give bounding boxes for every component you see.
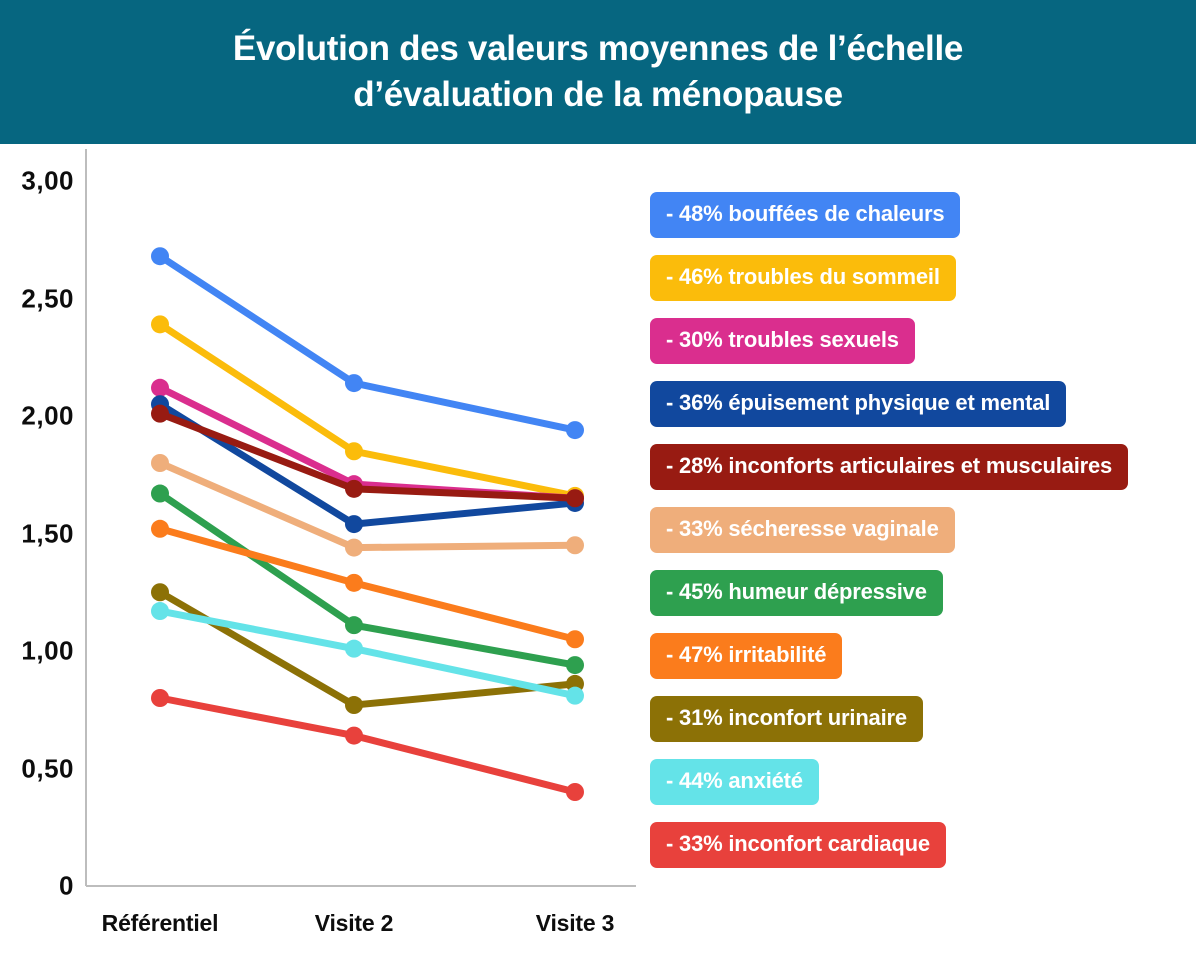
data-point bbox=[345, 640, 363, 658]
x-axis-tick-label: Référentiel bbox=[102, 910, 219, 937]
legend-item[interactable]: - 45% humeur dépressive bbox=[650, 570, 943, 616]
legend-item[interactable]: - 46% troubles du sommeil bbox=[650, 255, 956, 301]
data-point bbox=[345, 374, 363, 392]
chart-plot-area: 3,002,502,001,501,000,500 RéférentielVis… bbox=[0, 144, 700, 968]
line-chart-svg bbox=[0, 144, 700, 968]
data-point bbox=[566, 687, 584, 705]
data-point bbox=[151, 379, 169, 397]
x-axis-tick-label: Visite 3 bbox=[536, 910, 615, 937]
data-point bbox=[151, 583, 169, 601]
y-axis-tick-label: 1,00 bbox=[0, 636, 74, 667]
legend-item[interactable]: - 48% bouffées de chaleurs bbox=[650, 192, 960, 238]
data-point bbox=[151, 405, 169, 423]
legend-item[interactable]: - 30% troubles sexuels bbox=[650, 318, 915, 364]
data-point bbox=[345, 515, 363, 533]
chart-legend: - 48% bouffées de chaleurs- 46% troubles… bbox=[650, 192, 1190, 885]
y-axis-tick-label: 1,50 bbox=[0, 518, 74, 549]
data-point bbox=[566, 536, 584, 554]
legend-item[interactable]: - 33% sécheresse vaginale bbox=[650, 507, 955, 553]
data-point bbox=[345, 616, 363, 634]
series-6 bbox=[151, 485, 584, 675]
data-point bbox=[345, 539, 363, 557]
series-line bbox=[160, 256, 575, 430]
data-point bbox=[151, 454, 169, 472]
data-point bbox=[566, 489, 584, 507]
series-0 bbox=[151, 247, 584, 439]
y-axis-tick-label: 2,00 bbox=[0, 401, 74, 432]
legend-item[interactable]: - 28% inconforts articulaires et muscula… bbox=[650, 444, 1128, 490]
data-point bbox=[345, 696, 363, 714]
data-point bbox=[566, 421, 584, 439]
data-point bbox=[345, 727, 363, 745]
data-point bbox=[151, 602, 169, 620]
series-line bbox=[160, 324, 575, 496]
y-axis-tick-label: 0 bbox=[0, 871, 74, 902]
series-1 bbox=[151, 315, 584, 505]
legend-item[interactable]: - 44% anxiété bbox=[650, 759, 819, 805]
data-point bbox=[151, 315, 169, 333]
legend-item[interactable]: - 47% irritabilité bbox=[650, 633, 842, 679]
data-point bbox=[566, 783, 584, 801]
data-point bbox=[151, 247, 169, 265]
data-point bbox=[151, 520, 169, 538]
data-point bbox=[566, 656, 584, 674]
chart-header-banner: Évolution des valeurs moyennes de l’éche… bbox=[0, 0, 1196, 144]
page-title: Évolution des valeurs moyennes de l’éche… bbox=[73, 26, 1123, 118]
legend-item[interactable]: - 36% épuisement physique et mental bbox=[650, 381, 1066, 427]
x-axis-tick-label: Visite 2 bbox=[315, 910, 394, 937]
y-axis-tick-label: 3,00 bbox=[0, 166, 74, 197]
data-point bbox=[345, 574, 363, 592]
legend-item[interactable]: - 33% inconfort cardiaque bbox=[650, 822, 946, 868]
series-line bbox=[160, 698, 575, 792]
data-point bbox=[151, 485, 169, 503]
y-axis-tick-label: 0,50 bbox=[0, 753, 74, 784]
data-point bbox=[566, 630, 584, 648]
data-point bbox=[151, 689, 169, 707]
legend-item[interactable]: - 31% inconfort urinaire bbox=[650, 696, 923, 742]
data-point bbox=[345, 480, 363, 498]
series-line bbox=[160, 494, 575, 666]
data-point bbox=[345, 442, 363, 460]
y-axis-tick-label: 2,50 bbox=[0, 283, 74, 314]
